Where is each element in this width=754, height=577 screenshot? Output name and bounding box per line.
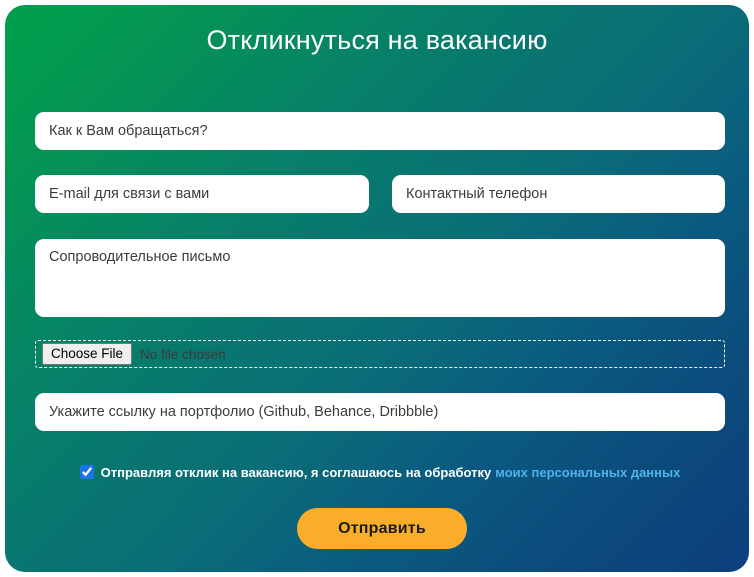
consent-label: Отправляя отклик на вакансию, я соглашаю… (101, 465, 492, 480)
portfolio-link-input[interactable] (35, 393, 725, 431)
job-application-form-card: Откликнуться на вакансию Choose File No … (5, 5, 749, 572)
choose-file-button[interactable]: Choose File (42, 343, 132, 366)
cover-letter-textarea[interactable] (35, 239, 725, 317)
email-input[interactable] (35, 175, 369, 213)
page-root: Откликнуться на вакансию Choose File No … (0, 0, 754, 577)
consent-row: Отправляя отклик на вакансию, я соглашаю… (35, 461, 725, 483)
file-status-label: No file chosen (140, 347, 226, 362)
file-upload-row[interactable]: Choose File No file chosen (35, 340, 725, 368)
name-input[interactable] (35, 112, 725, 150)
page-title: Откликнуться на вакансию (5, 25, 749, 56)
consent-checkbox[interactable] (80, 465, 94, 479)
phone-input[interactable] (392, 175, 725, 213)
personal-data-link[interactable]: моих персональных данных (495, 465, 680, 480)
submit-button[interactable]: Отправить (297, 508, 467, 549)
